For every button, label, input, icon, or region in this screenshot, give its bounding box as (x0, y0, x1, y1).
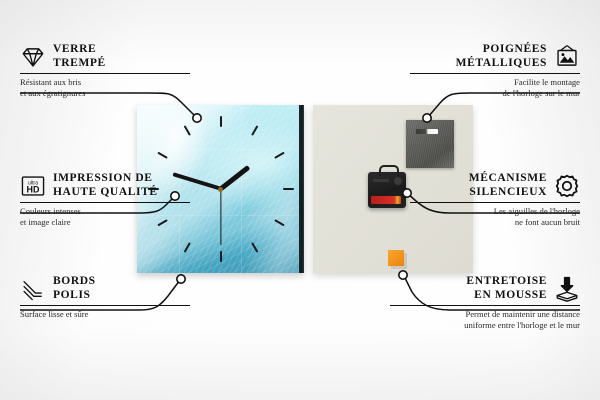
feature-poignees-metalliques[interactable]: POIGNÉES MÉTALLIQUES Facilite le montage… (410, 43, 580, 98)
feature-title: BORDS POLIS (53, 275, 96, 302)
hour-marker (220, 251, 222, 262)
feature-header: ultra HD IMPRESSION DE HAUTE QUALITÉ (20, 172, 190, 199)
feature-description: Facilite le montage de l'horloge sur le … (410, 77, 580, 98)
feature-description: Couleurs intenses et image claire (20, 206, 190, 227)
diamond-icon (20, 44, 46, 70)
feature-rule (410, 202, 580, 203)
feature-rule (20, 202, 190, 203)
foam-spacer-pad (388, 250, 404, 266)
mechanism-detail (373, 179, 389, 182)
feature-entretoise-en-mousse[interactable]: ENTRETOISE EN MOUSSE Permet de maintenir… (390, 275, 580, 330)
hour-marker (220, 116, 222, 127)
feature-title: POIGNÉES MÉTALLIQUES (456, 43, 547, 70)
hour-marker (283, 188, 294, 190)
feature-rule (390, 305, 580, 306)
feature-title: VERRE TREMPÉ (53, 43, 106, 70)
feature-mecanisme-silencieux[interactable]: MÉCANISME SILENCIEUX Les aiguilles de l'… (410, 172, 580, 227)
feature-title: IMPRESSION DE HAUTE QUALITÉ (53, 172, 158, 199)
gear-icon (554, 173, 580, 199)
polished-edges-icon (20, 276, 46, 302)
ultra-hd-icon: ultra HD (20, 173, 46, 199)
svg-text:HD: HD (27, 184, 40, 194)
feature-impression-haute-qualite[interactable]: ultra HD IMPRESSION DE HAUTE QUALITÉ Cou… (20, 172, 190, 227)
feature-description: Surface lisse et sûre (20, 309, 190, 320)
metal-hanger-plate (406, 120, 454, 168)
feature-description: Permet de maintenir une distance uniform… (390, 309, 580, 330)
feature-verre-trempe[interactable]: VERRE TREMPÉ Résistant aux bris et aux é… (20, 43, 190, 98)
clock-edge-profile (299, 105, 304, 273)
hands-center-cap (218, 187, 223, 192)
battery (371, 196, 401, 204)
feature-header: ENTRETOISE EN MOUSSE (390, 275, 580, 302)
feature-title: MÉCANISME SILENCIEUX (469, 172, 547, 199)
mechanism-dial (394, 177, 402, 185)
foam-spacer-icon (554, 276, 580, 302)
feature-rule (410, 73, 580, 74)
second-hand (220, 189, 221, 245)
feature-rule (20, 305, 190, 306)
feature-title: ENTRETOISE EN MOUSSE (466, 275, 547, 302)
feature-bords-polis[interactable]: BORDS POLIS Surface lisse et sûre (20, 275, 190, 320)
mechanism-hanging-loop (379, 165, 399, 176)
feature-header: BORDS POLIS (20, 275, 190, 302)
feature-rule (20, 73, 190, 74)
feature-description: Résistant aux bris et aux égratignures (20, 77, 190, 98)
feature-header: VERRE TREMPÉ (20, 43, 190, 70)
clock-mechanism (368, 172, 406, 208)
picture-hanger-icon (554, 44, 580, 70)
feature-header: MÉCANISME SILENCIEUX (410, 172, 580, 199)
hanger-slot (416, 129, 438, 134)
infographic-root: VERRE TREMPÉ Résistant aux bris et aux é… (0, 0, 600, 400)
feature-description: Les aiguilles de l'horloge ne font aucun… (410, 206, 580, 227)
feature-header: POIGNÉES MÉTALLIQUES (410, 43, 580, 70)
